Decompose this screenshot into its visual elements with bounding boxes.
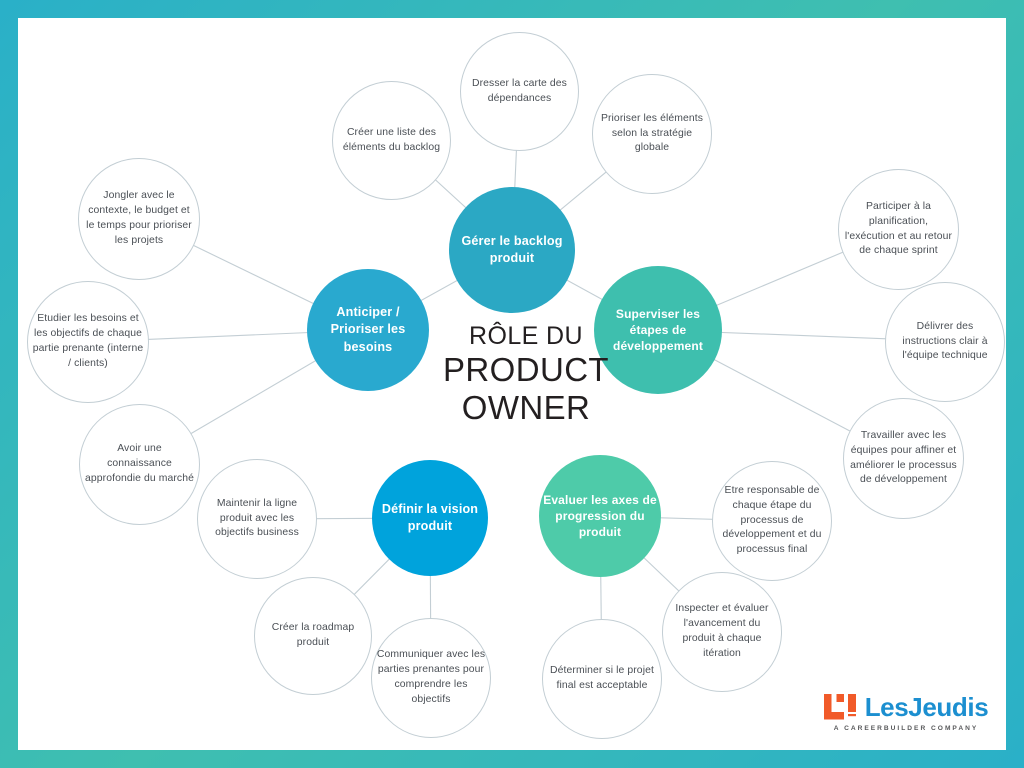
page-title-line2: PRODUCT	[430, 351, 622, 389]
leaf-prioriser-strategie[interactable]: Prioriser les éléments selon la stratégi…	[592, 74, 712, 194]
leaf-communiquer-parties-label: Communiquer avec les parties prenantes p…	[376, 648, 486, 707]
leaf-communiquer-parties[interactable]: Communiquer avec les parties prenantes p…	[371, 618, 491, 738]
hub-evaluer-label: Evaluer les axes de progression du produ…	[543, 492, 657, 541]
leaf-jongler-contexte[interactable]: Jongler avec le contexte, le budget et l…	[78, 158, 200, 280]
leaf-participer-sprint-label: Participer à la planification, l'exécuti…	[843, 200, 954, 259]
page-title-line3: OWNER	[430, 389, 622, 427]
leaf-jongler-contexte-label: Jongler avec le contexte, le budget et l…	[83, 189, 195, 248]
leaf-etre-responsable-label: Etre responsable de chaque étape du proc…	[717, 484, 827, 558]
logo: LesJeudis A CAREERBUILDER COMPANY	[818, 694, 994, 732]
leaf-creer-roadmap[interactable]: Créer la roadmap produit	[254, 577, 372, 695]
leaf-inspecter-evaluer[interactable]: Inspecter et évaluer l'avancement du pro…	[662, 572, 782, 692]
leaf-carte-dependances[interactable]: Dresser la carte des dépendances	[460, 32, 579, 151]
hub-backlog-label: Gérer le backlog produit	[453, 233, 571, 267]
leaf-determiner-projet[interactable]: Déterminer si le projet final est accept…	[542, 619, 662, 739]
leaf-determiner-projet-label: Déterminer si le projet final est accept…	[547, 664, 657, 694]
leaf-connaissance-marche[interactable]: Avoir une connaissance approfondie du ma…	[79, 404, 200, 525]
leaf-connaissance-marche-label: Avoir une connaissance approfondie du ma…	[84, 442, 195, 486]
leaf-etre-responsable[interactable]: Etre responsable de chaque étape du proc…	[712, 461, 832, 581]
leaf-maintenir-ligne-label: Maintenir la ligne produit avec les obje…	[202, 497, 312, 541]
leaf-travailler-equipes[interactable]: Travailler avec les équipes pour affiner…	[843, 398, 964, 519]
page-title-line1: RÔLE DU	[430, 322, 622, 351]
leaf-inspecter-evaluer-label: Inspecter et évaluer l'avancement du pro…	[667, 602, 777, 661]
leaf-maintenir-ligne[interactable]: Maintenir la ligne produit avec les obje…	[197, 459, 317, 579]
logo-wordmark: LesJeudis	[865, 694, 989, 720]
logo-tagline: A CAREERBUILDER COMPANY	[834, 725, 979, 732]
page-title: RÔLE DU PRODUCT OWNER	[430, 322, 622, 428]
leaf-travailler-equipes-label: Travailler avec les équipes pour affiner…	[848, 429, 959, 488]
leaf-creer-roadmap-label: Créer la roadmap produit	[259, 621, 367, 651]
hub-vision-label: Définir la vision produit	[376, 501, 484, 535]
leaf-prioriser-strategie-label: Prioriser les éléments selon la stratégi…	[597, 112, 707, 156]
leaf-delivrer-instructions-label: Délivrer des instructions clair à l'équi…	[890, 320, 1000, 364]
hub-backlog[interactable]: Gérer le backlog produit	[449, 187, 575, 313]
hub-vision[interactable]: Définir la vision produit	[372, 460, 488, 576]
leaf-participer-sprint[interactable]: Participer à la planification, l'exécuti…	[838, 169, 959, 290]
hub-anticiper-label: Anticiper / Prioriser les besoins	[311, 304, 425, 355]
leaf-liste-backlog-label: Créer une liste des éléments du backlog	[337, 126, 446, 156]
leaf-liste-backlog[interactable]: Créer une liste des éléments du backlog	[332, 81, 451, 200]
leaf-carte-dependances-label: Dresser la carte des dépendances	[465, 77, 574, 107]
lesjeudis-mark-icon	[824, 694, 858, 720]
hub-evaluer[interactable]: Evaluer les axes de progression du produ…	[539, 455, 661, 577]
leaf-etudier-besoins-label: Etudier les besoins et les objectifs de …	[32, 312, 144, 371]
leaf-etudier-besoins[interactable]: Etudier les besoins et les objectifs de …	[27, 281, 149, 403]
leaf-delivrer-instructions[interactable]: Délivrer des instructions clair à l'équi…	[885, 282, 1005, 402]
hub-anticiper[interactable]: Anticiper / Prioriser les besoins	[307, 269, 429, 391]
